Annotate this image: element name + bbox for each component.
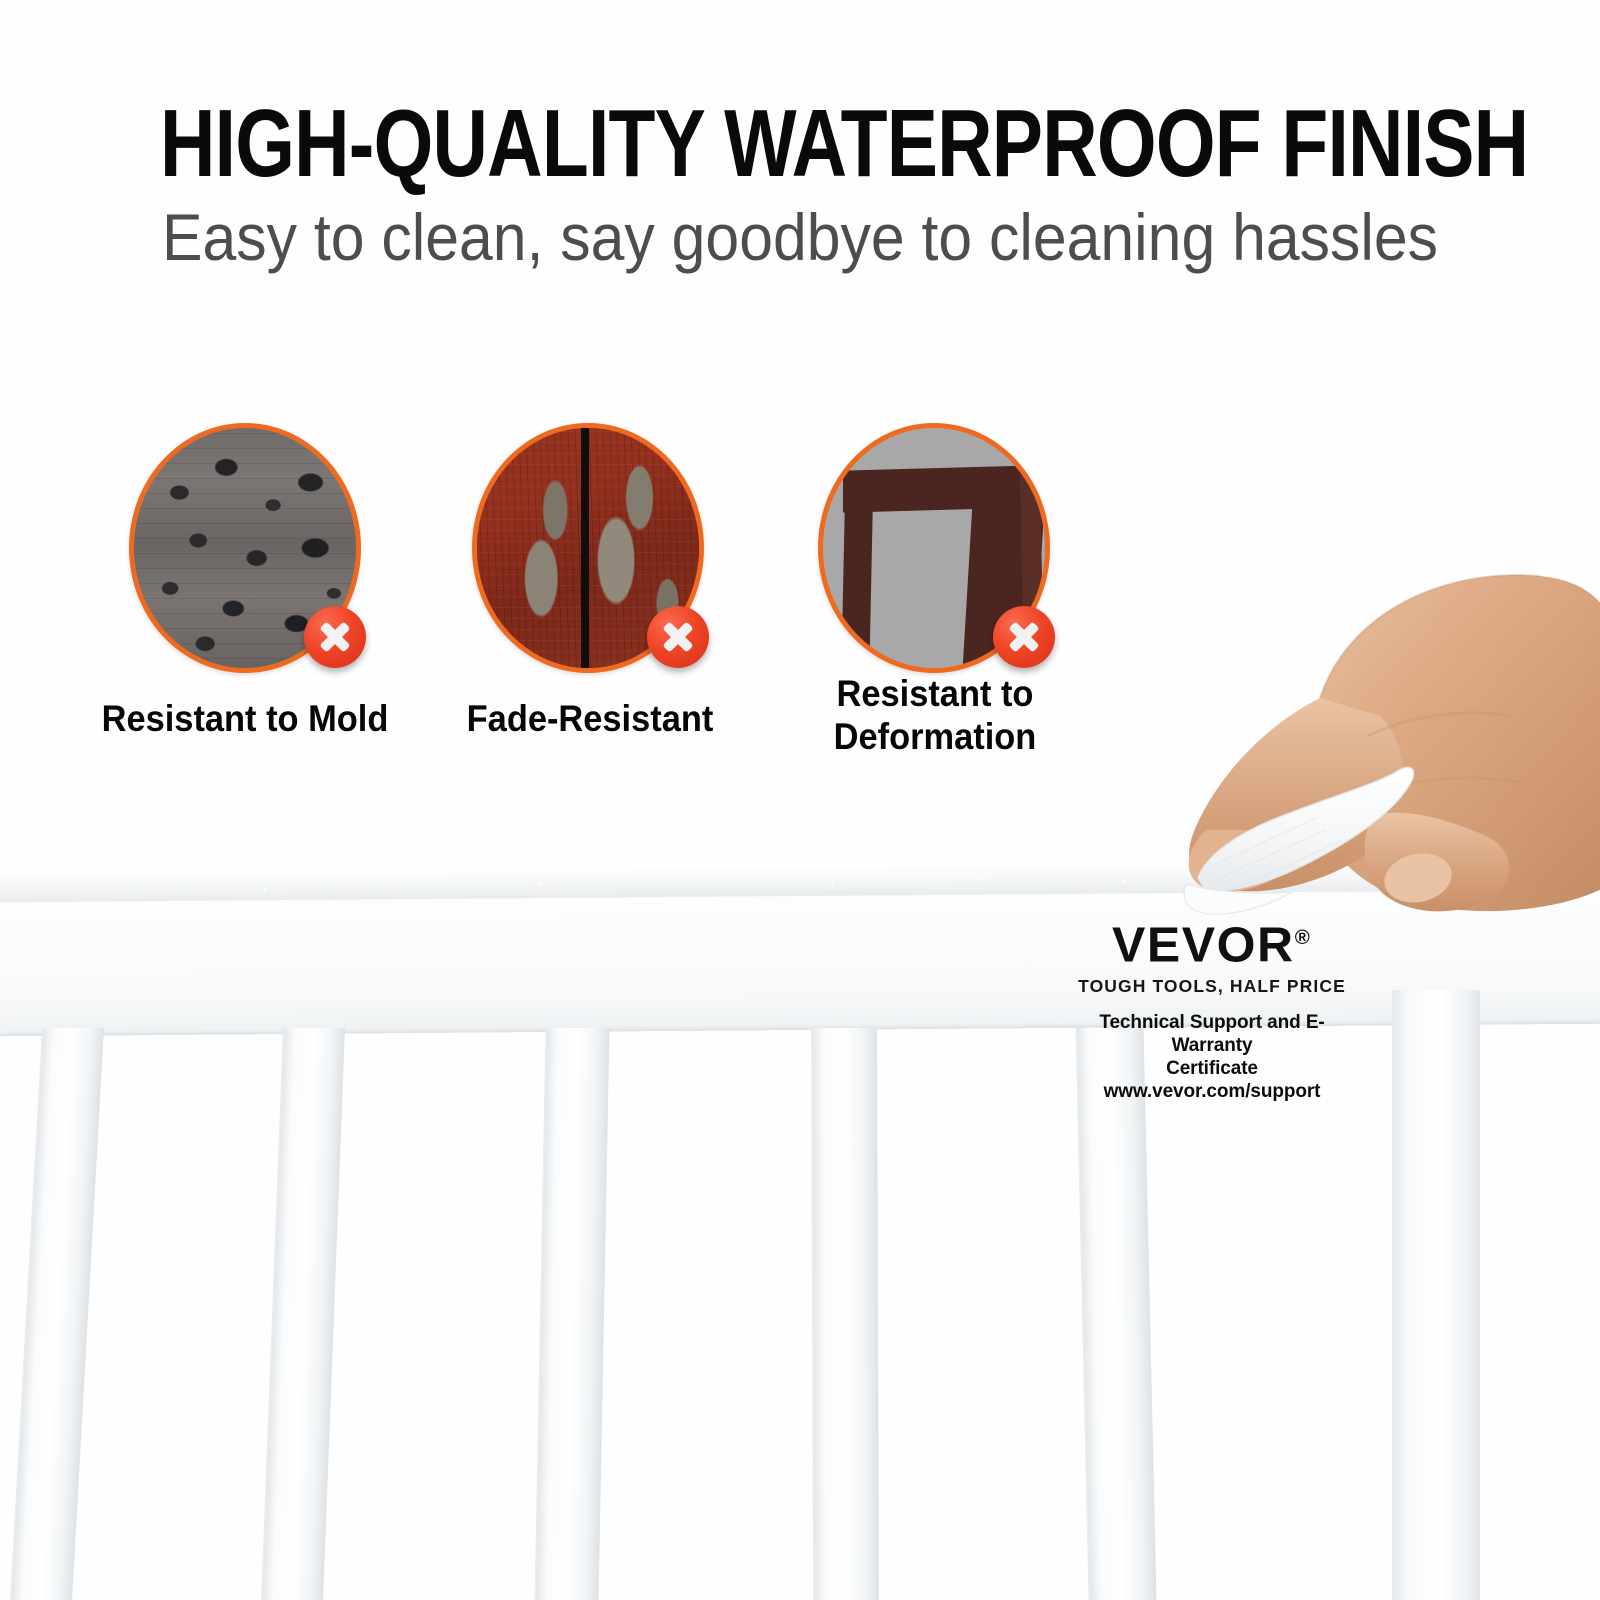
baluster bbox=[1076, 1028, 1157, 1600]
brand-tagline: TOUGH TOOLS, HALF PRICE bbox=[1062, 975, 1362, 997]
feature-image-deformation bbox=[818, 423, 1050, 673]
feature-label-mold: Resistant to Mold bbox=[59, 697, 431, 740]
hand-wiping-rail bbox=[1020, 548, 1600, 968]
baluster bbox=[261, 1028, 345, 1600]
corner-post bbox=[1392, 990, 1480, 1600]
feature-image-fade bbox=[472, 423, 704, 673]
feature-image-mold bbox=[129, 423, 361, 673]
brand-support-line-2: Certificate www.vevor.com/support bbox=[1062, 1057, 1362, 1103]
x-mark-icon bbox=[304, 606, 366, 668]
product-infographic: HIGH-QUALITY WATERPROOF FINISH Easy to c… bbox=[0, 0, 1600, 1600]
feature-label-fade: Fade-Resistant bbox=[418, 697, 762, 740]
baluster bbox=[10, 1028, 104, 1600]
baluster bbox=[535, 1028, 610, 1600]
x-mark-icon bbox=[647, 606, 709, 668]
hand-illustration bbox=[1020, 548, 1600, 968]
baluster bbox=[811, 1028, 879, 1600]
brand-support-line-1: Technical Support and E-Warranty bbox=[1062, 1011, 1362, 1057]
